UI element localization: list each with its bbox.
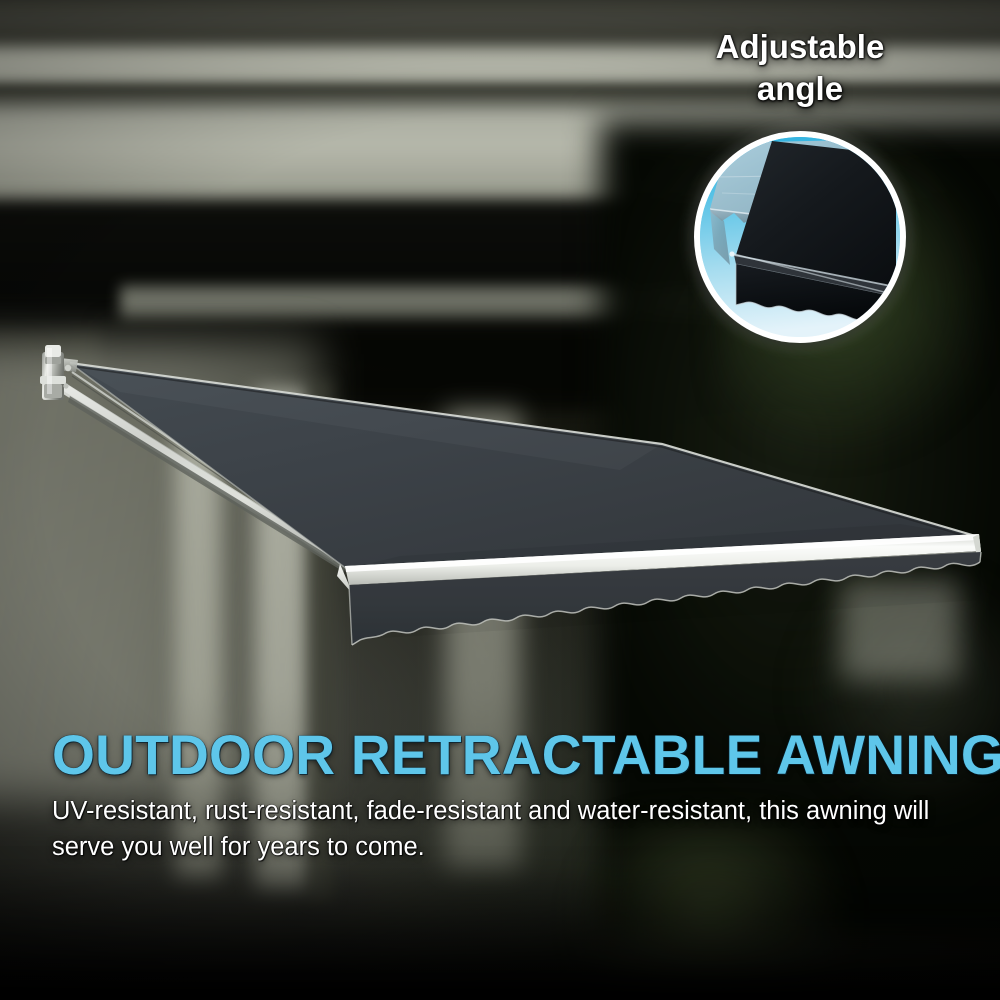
page-title: OUTDOOR RETRACTABLE AWNING xyxy=(52,726,935,783)
adjustable-angle-callout xyxy=(694,131,906,343)
callout-label: Adjustable angle xyxy=(640,26,960,110)
page-description: UV-resistant, rust-resistant, fade-resis… xyxy=(52,793,948,865)
product-banner: Adjustable angle OUTDOOR RETRACTABLE AWN… xyxy=(0,0,1000,1000)
marketing-copy-block: OUTDOOR RETRACTABLE AWNING UV-resistant,… xyxy=(0,726,1000,866)
callout-label-line-2: angle xyxy=(640,68,960,110)
callout-label-line-1: Adjustable xyxy=(640,26,960,68)
